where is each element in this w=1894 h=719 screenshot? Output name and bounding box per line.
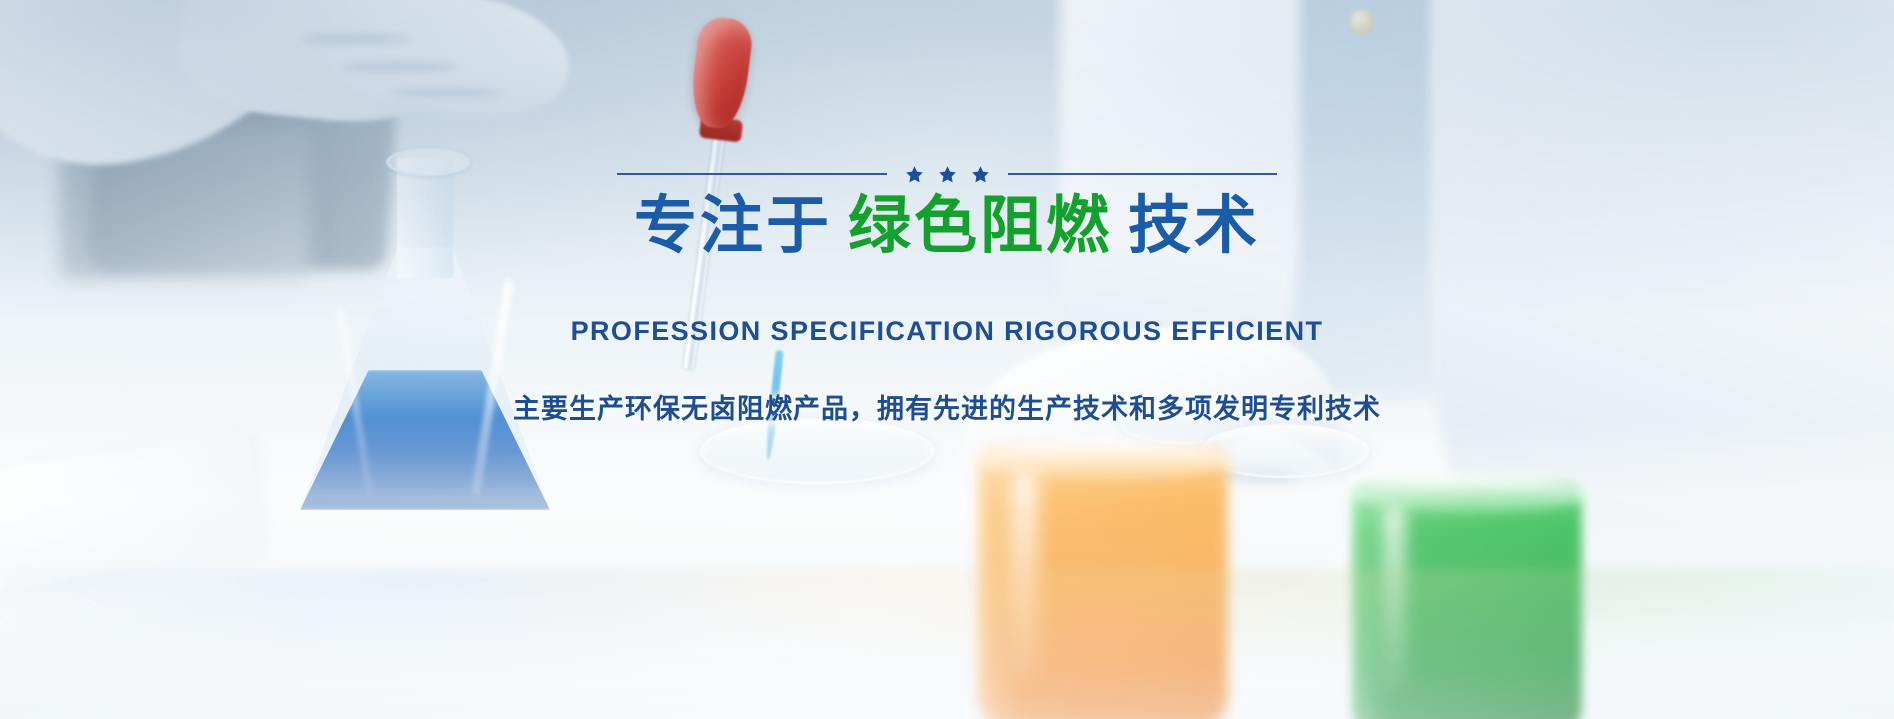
star-icon [905, 165, 924, 184]
hero-banner: 专注于 绿色阻燃 技术 PROFESSION SPECIFICATION RIG… [0, 0, 1894, 719]
headline-part-1: 专注于 [634, 194, 832, 259]
star-group [887, 165, 1008, 184]
decorative-rule-row [617, 163, 1277, 185]
divider-line-left [617, 173, 887, 175]
page-title: 专注于 绿色阻燃 技术 [634, 194, 1260, 259]
headline-part-2: 绿色阻燃 [848, 194, 1112, 259]
headline-part-3: 技术 [1128, 194, 1260, 259]
divider-line-right [1008, 173, 1278, 175]
star-icon [971, 165, 990, 184]
banner-description: 主要生产环保无卤阻燃产品，拥有先进的生产技术和多项发明专利技术 [513, 387, 1381, 426]
banner-text-overlay: 专注于 绿色阻燃 技术 PROFESSION SPECIFICATION RIG… [0, 0, 1894, 719]
star-icon [938, 165, 957, 184]
english-subtitle: PROFESSION SPECIFICATION RIGOROUS EFFICI… [571, 316, 1324, 347]
